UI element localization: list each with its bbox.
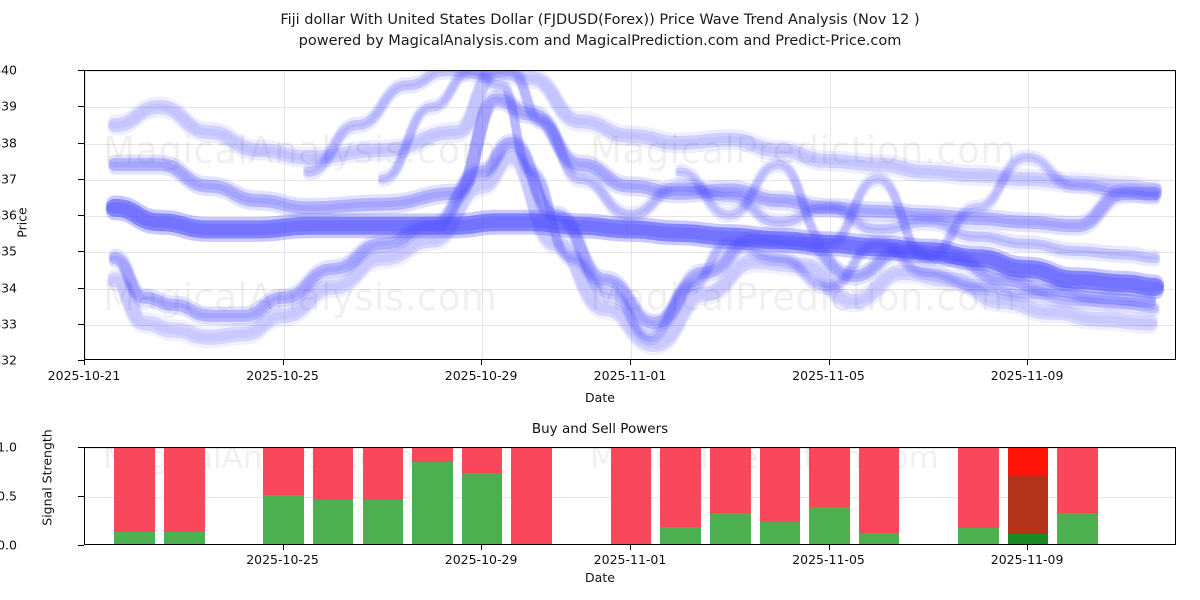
bar-x-tick-mark	[630, 545, 631, 550]
bar-x-tick-label: 2025-11-09	[991, 552, 1064, 567]
wave-x-tick-label: 2025-10-29	[445, 368, 518, 383]
wave-x-tick-mark	[283, 360, 284, 365]
wave-bands-svg	[85, 71, 1175, 359]
bar-item[interactable]	[958, 447, 999, 544]
bar-item[interactable]	[809, 447, 850, 544]
wave-y-tick-mark	[78, 106, 84, 107]
bar-segment-buy	[1057, 513, 1098, 544]
page-title: Fiji dollar With United States Dollar (F…	[0, 10, 1200, 31]
bar-segment-buy	[164, 532, 205, 544]
wave-band-band-upper-outer	[115, 71, 1155, 186]
bar-current-day[interactable]	[1008, 447, 1049, 544]
bar-segment-buy	[710, 513, 751, 544]
bar-y-tick-mark	[78, 496, 84, 497]
wave-x-tick-label: 2025-11-01	[594, 368, 667, 383]
bar-item[interactable]	[263, 447, 304, 544]
bar-y-tick-label: 1.0	[0, 440, 17, 455]
bar-segment-sell	[1057, 447, 1098, 513]
bar-x-axis-label: Date	[0, 570, 1200, 585]
wave-y-tick-mark	[78, 143, 84, 144]
wave-y-tick-mark	[78, 179, 84, 180]
bar-segment-sell	[660, 447, 701, 527]
bar-segment-bright-sell	[1008, 447, 1049, 475]
wave-y-axis-label: Price	[15, 163, 30, 283]
bar-segment-sell	[710, 447, 751, 513]
bar-segment-sell	[263, 447, 304, 495]
bar-item[interactable]	[511, 447, 552, 544]
wave-y-tick-label: 0.433	[0, 316, 17, 331]
bar-segment-buy	[114, 532, 155, 544]
bar-segment-dark-sell	[1008, 475, 1049, 534]
bar-segment-buy	[660, 527, 701, 544]
page-subtitle: powered by MagicalAnalysis.com and Magic…	[0, 31, 1200, 52]
wave-y-tick-mark	[78, 251, 84, 252]
wave-x-tick-mark	[630, 360, 631, 365]
bar-segment-buy	[809, 507, 850, 544]
bar-item[interactable]	[114, 447, 155, 544]
bar-item[interactable]	[660, 447, 701, 544]
bar-segment-buy	[263, 495, 304, 544]
bar-x-tick-label: 2025-10-29	[445, 552, 518, 567]
wave-x-tick-label: 2025-10-25	[246, 368, 319, 383]
bar-segment-sell	[313, 447, 354, 500]
wave-y-tick-label: 0.439	[0, 99, 17, 114]
bar-segment-buy	[313, 500, 354, 544]
wave-y-tick-mark	[78, 288, 84, 289]
bar-item[interactable]	[710, 447, 751, 544]
bar-segment-buy	[412, 462, 453, 544]
chart-page: Fiji dollar With United States Dollar (F…	[0, 0, 1200, 600]
wave-x-tick-mark	[84, 360, 85, 365]
bar-y-tick-mark	[78, 545, 84, 546]
bar-item[interactable]	[859, 447, 900, 544]
bar-x-tick-label: 2025-11-05	[792, 552, 865, 567]
bar-item[interactable]	[760, 447, 801, 544]
bar-item[interactable]	[313, 447, 354, 544]
bar-y-tick-label: 0.5	[0, 489, 17, 504]
bar-segment-sell	[859, 447, 900, 533]
wave-x-axis-label: Date	[0, 390, 1200, 405]
bar-segment-sell	[511, 447, 552, 544]
wave-x-tick-mark	[1027, 360, 1028, 365]
bar-segment-sell	[114, 447, 155, 532]
bar-x-tick-mark	[481, 545, 482, 550]
bar-item[interactable]	[611, 447, 652, 544]
wave-y-tick-mark	[78, 215, 84, 216]
price-wave-plot: MagicalAnalysis.comMagicalPrediction.com…	[84, 70, 1176, 360]
wave-x-tick-mark	[481, 360, 482, 365]
bar-x-tick-label: 2025-10-25	[246, 552, 319, 567]
bar-x-tick-mark	[283, 545, 284, 550]
bar-item[interactable]	[1057, 447, 1098, 544]
bar-segment-sell	[760, 447, 801, 522]
wave-y-tick-label: 0.440	[0, 63, 17, 78]
bar-segment-sell	[462, 447, 503, 473]
bar-item[interactable]	[412, 447, 453, 544]
wave-x-tick-label: 2025-11-09	[991, 368, 1064, 383]
bar-segment-sell	[412, 447, 453, 462]
bar-item[interactable]	[164, 447, 205, 544]
bar-segment-buy	[760, 522, 801, 544]
bar-segment-buy	[958, 528, 999, 544]
bar-segment-sell	[611, 447, 652, 544]
bar-segment-buy	[363, 500, 404, 544]
wave-x-tick-mark	[829, 360, 830, 365]
bar-item[interactable]	[462, 447, 503, 544]
wave-x-tick-label: 2025-10-21	[48, 368, 121, 383]
bar-x-tick-mark	[1027, 545, 1028, 550]
bar-y-tick-label: 0.0	[0, 538, 17, 553]
bar-segment-buy	[462, 473, 503, 544]
bar-segment-buy	[859, 533, 900, 544]
bar-segment-sell	[809, 447, 850, 507]
bar-item[interactable]	[363, 447, 404, 544]
bar-segment-dark-buy	[1008, 534, 1049, 544]
wave-y-tick-mark	[78, 324, 84, 325]
bar-segment-sell	[363, 447, 404, 500]
bar-y-tick-mark	[78, 447, 84, 448]
wave-y-tick-label: 0.438	[0, 135, 17, 150]
wave-x-tick-label: 2025-11-05	[792, 368, 865, 383]
wave-y-tick-mark	[78, 70, 84, 71]
bar-y-axis-label: Signal Strength	[40, 398, 55, 558]
chart-title-block: Fiji dollar With United States Dollar (F…	[0, 10, 1200, 52]
bar-x-tick-label: 2025-11-01	[594, 552, 667, 567]
bar-segment-sell	[164, 447, 205, 532]
bar-x-tick-mark	[829, 545, 830, 550]
bar-segment-sell	[958, 447, 999, 528]
bar-chart-title: Buy and Sell Powers	[0, 421, 1200, 437]
wave-y-tick-label: 0.432	[0, 353, 17, 368]
buy-sell-powers-plot: MagicalAnalysis.comMagicalPrediction.com	[84, 447, 1176, 545]
